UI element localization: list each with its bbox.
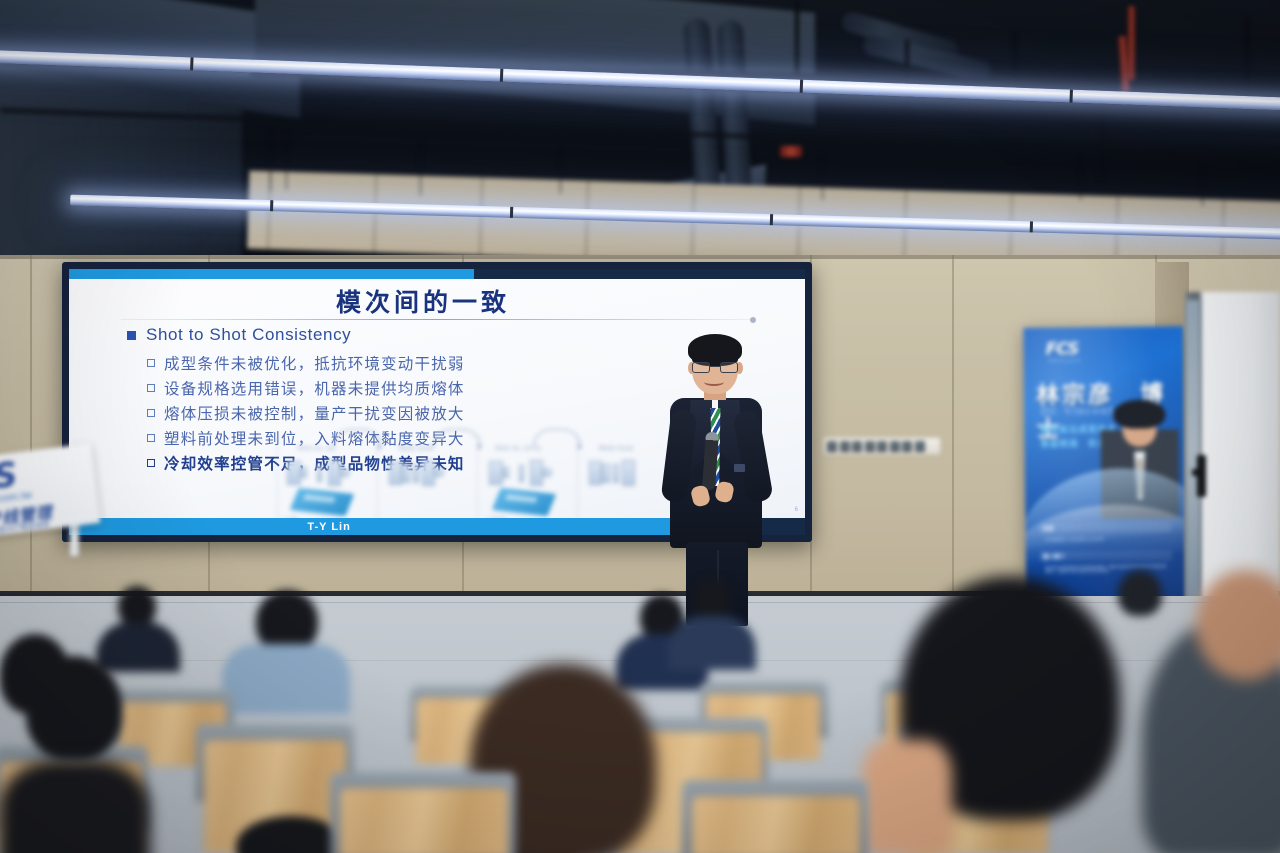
bullet-box-icon bbox=[147, 459, 155, 467]
bullet-box-icon bbox=[147, 434, 155, 442]
slide-sub-bullet-label: 设备规格选用错误，机器未提供均质熔体 bbox=[164, 377, 465, 399]
light-switch[interactable] bbox=[865, 441, 875, 452]
slide-divider bbox=[121, 319, 753, 320]
bullet-box-icon bbox=[147, 384, 155, 392]
slide-title: 模次间的一致 bbox=[69, 283, 777, 319]
hanger-rod bbox=[905, 40, 909, 110]
slide-accent-bar bbox=[69, 269, 474, 279]
molding-machine-icon bbox=[589, 459, 665, 489]
audience-shoulders bbox=[222, 644, 350, 714]
bullet-square-icon bbox=[127, 331, 136, 340]
audience-shoulders bbox=[96, 622, 180, 672]
audience-head bbox=[0, 760, 150, 853]
light-switch[interactable] bbox=[902, 441, 912, 452]
red-sprinkler-pipe bbox=[1128, 6, 1135, 80]
fcs-url-label: www.fcs.com.tw bbox=[1048, 357, 1081, 362]
light-switch[interactable] bbox=[890, 441, 900, 452]
audience-shoulders bbox=[668, 616, 756, 670]
ceiling bbox=[0, 0, 1280, 262]
molded-part-icon bbox=[290, 488, 354, 516]
glasses-icon bbox=[692, 362, 738, 373]
light-switch[interactable] bbox=[840, 441, 850, 452]
audience-seating bbox=[0, 560, 1280, 853]
slide-bullet-level1: Shot to Shot Consistency bbox=[127, 325, 351, 345]
slide-sub-bullet-label: 成型条件未被优化，抵抗环境变动干扰弱 bbox=[164, 352, 465, 374]
slide-sub-bullet-label: 熔体压损未被控制，量产干扰变因被放大 bbox=[164, 402, 465, 424]
light-switch[interactable] bbox=[827, 441, 837, 452]
banner-section-body: 台湾鼎齎集团FCS 射出成型中心 技术总監 bbox=[1042, 534, 1170, 544]
audience-head bbox=[118, 586, 156, 626]
audience-head bbox=[256, 590, 318, 652]
molding-machine-icon bbox=[489, 459, 565, 489]
hanger-rod bbox=[1100, 96, 1104, 196]
banner-section-heading: 经歷 bbox=[1039, 522, 1171, 533]
audience-head bbox=[1118, 570, 1162, 616]
light-switch[interactable] bbox=[915, 441, 925, 452]
molding-cycle-diagram: Shot no. (n) Mold close Shot no. (n+1) M… bbox=[277, 429, 677, 529]
speaker-hair bbox=[688, 334, 742, 364]
diagram-stage-label: Shot no. (n+1) bbox=[495, 445, 541, 452]
conference-photo-scene: 模次间的一致 Shot to Shot Consistency 成型条件未被优化… bbox=[0, 0, 1280, 853]
slide-sub-bullet: 成型条件未被优化，抵抗环境变动干扰弱 bbox=[147, 351, 465, 374]
audience-head bbox=[692, 578, 732, 620]
slide-page-number: 6 bbox=[795, 507, 798, 513]
door-handle[interactable] bbox=[1197, 455, 1206, 497]
slide-accent-bar-dark bbox=[474, 269, 805, 279]
molding-machine-icon bbox=[389, 459, 465, 489]
slide-footer-label: T-Y Lin bbox=[307, 521, 350, 533]
hanger-rod bbox=[795, 0, 799, 92]
bullet-box-icon bbox=[147, 359, 155, 367]
light-switch-panel[interactable] bbox=[823, 437, 941, 455]
molded-part-icon bbox=[492, 488, 556, 516]
light-switch[interactable] bbox=[852, 441, 862, 452]
light-switch[interactable] bbox=[877, 441, 887, 452]
door-glass-panel bbox=[1186, 300, 1200, 600]
hanger-rod bbox=[1245, 18, 1249, 108]
slide-sub-bullet: 设备规格选用错误，机器未提供均质熔体 bbox=[147, 376, 465, 399]
slide-bullet-level1-label: Shot to Shot Consistency bbox=[146, 325, 351, 345]
suit-pocket-detail bbox=[734, 464, 745, 472]
seat-back[interactable] bbox=[692, 796, 860, 853]
speaker-smile bbox=[704, 378, 724, 386]
slide-footer: T-Y Lin bbox=[69, 518, 753, 535]
audience-hand bbox=[862, 740, 952, 853]
diagram-stage-label: Mold close bbox=[399, 445, 434, 452]
slide-sub-bullet: 熔体压损未被控制，量产干扰变因被放大 bbox=[147, 401, 465, 424]
hanger-rod bbox=[1013, 32, 1017, 96]
red-sprinkler-pipe bbox=[780, 146, 802, 157]
bullet-box-icon bbox=[147, 409, 155, 417]
molding-machine-icon bbox=[287, 459, 363, 489]
diagram-stage-label: Mold close bbox=[599, 445, 634, 452]
audience-head bbox=[0, 634, 70, 714]
seat-back[interactable] bbox=[340, 788, 508, 853]
diagram-stage-label: Shot no. (n) bbox=[297, 445, 335, 452]
